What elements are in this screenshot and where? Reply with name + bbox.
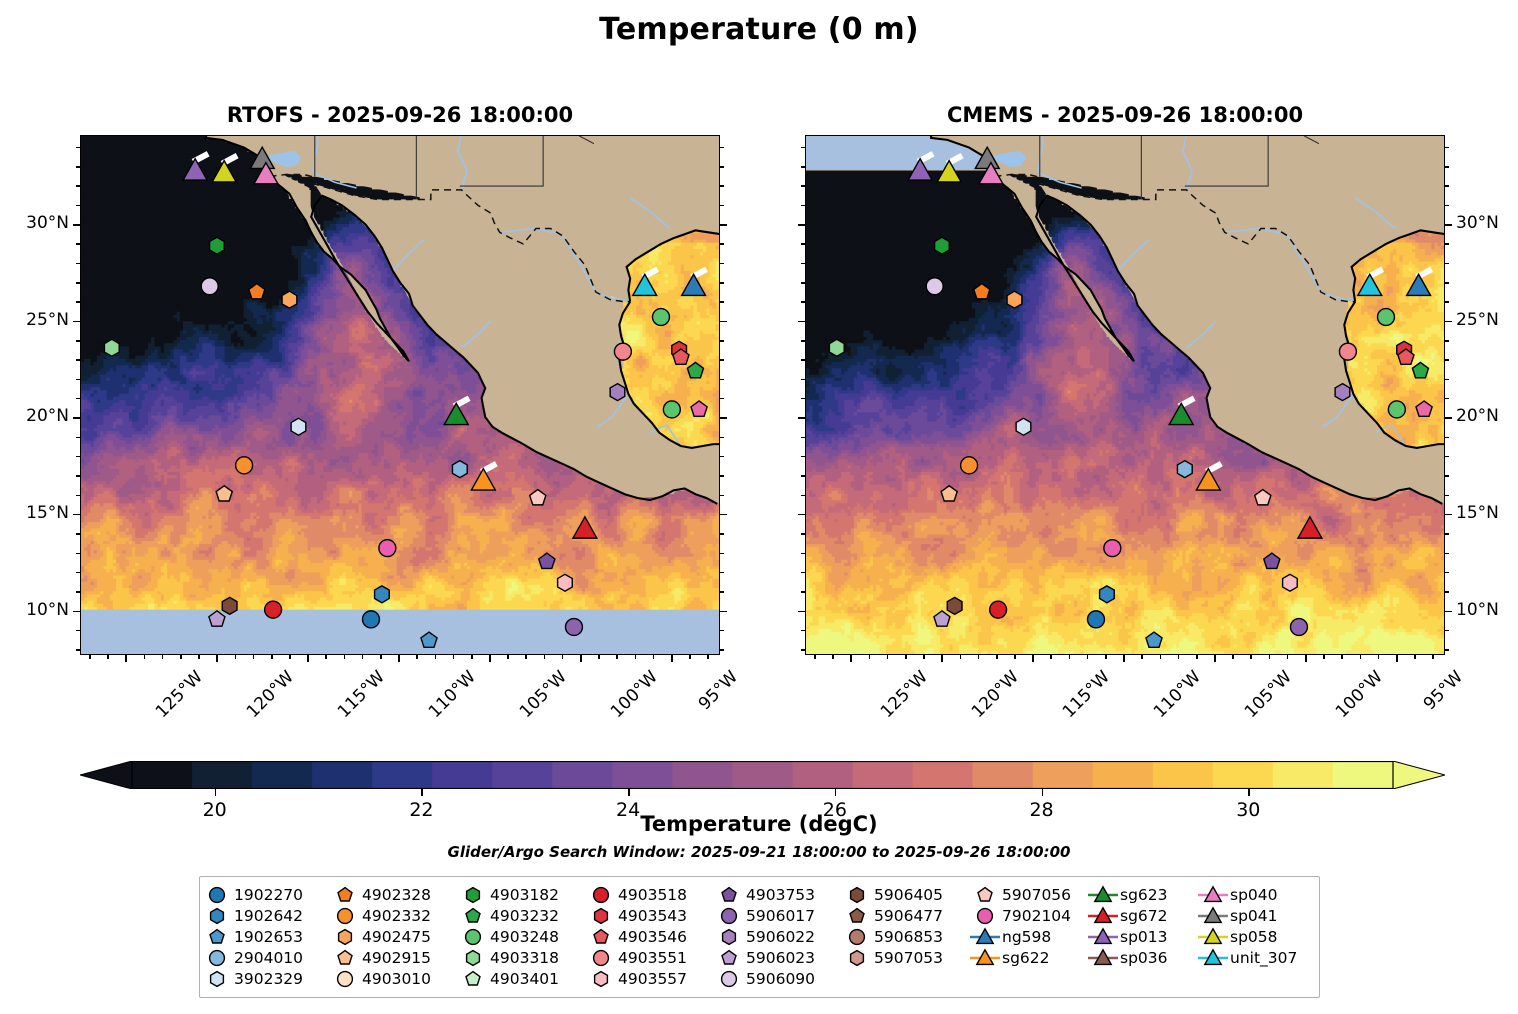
map-marker-1902270[interactable] xyxy=(210,887,225,902)
map-marker-1902642[interactable] xyxy=(211,908,224,923)
y-tick xyxy=(801,301,805,303)
glider-marker-icon xyxy=(1196,948,1230,968)
legend-label: 3902329 xyxy=(234,970,303,988)
y-tick xyxy=(1445,417,1452,419)
x-tick xyxy=(869,655,871,659)
y-tick xyxy=(720,553,724,555)
x-tick xyxy=(507,655,509,659)
map-marker-4903248[interactable] xyxy=(466,929,481,944)
colorbar-band xyxy=(432,761,493,789)
legend-label: 5906477 xyxy=(874,907,943,925)
y-tick xyxy=(1445,321,1452,323)
legend-item-ng598[interactable]: ng598 xyxy=(968,926,1086,947)
y-tick xyxy=(801,282,805,284)
legend-item-sp058[interactable]: sp058 xyxy=(1196,926,1314,947)
float-marker-icon xyxy=(712,906,746,926)
float-marker-icon xyxy=(328,927,362,947)
y-tick xyxy=(801,649,805,651)
y-tick xyxy=(76,301,80,303)
colorbar-tick xyxy=(1248,789,1249,796)
float-marker-icon xyxy=(456,948,490,968)
x-tick-label: 120°W xyxy=(243,667,298,722)
map-marker-5906022[interactable] xyxy=(1335,384,1350,401)
colorbar-band xyxy=(913,761,974,789)
legend-item-4902915[interactable]: 4902915 xyxy=(328,947,456,968)
legend-item-5906090[interactable]: 5906090 xyxy=(712,968,840,989)
legend-label: sg622 xyxy=(1002,949,1050,967)
y-tick xyxy=(1445,572,1449,574)
y-tick xyxy=(801,166,805,168)
map-marker-4903401[interactable] xyxy=(466,971,480,984)
y-tick xyxy=(801,495,805,497)
map-marker-5906017[interactable] xyxy=(722,908,737,923)
x-tick xyxy=(1014,655,1016,659)
y-tick xyxy=(798,224,805,226)
y-tick xyxy=(1445,630,1449,632)
y-tick xyxy=(1445,495,1449,497)
map-axes-rtofs[interactable] xyxy=(80,135,720,655)
map-marker-4903318[interactable] xyxy=(829,339,844,356)
x-tick xyxy=(1378,655,1380,659)
y-tick xyxy=(1445,398,1449,400)
legend-item-sg672[interactable]: sg672 xyxy=(1086,905,1196,926)
map-marker-4903518[interactable] xyxy=(990,601,1007,618)
y-tick xyxy=(1445,553,1449,555)
x-tick xyxy=(1141,655,1143,659)
map-marker-2904010[interactable] xyxy=(452,461,467,478)
map-marker-4903753[interactable] xyxy=(722,887,736,900)
map-marker-5906477[interactable] xyxy=(850,908,864,921)
x-tick xyxy=(489,655,491,662)
legend-label: 4903518 xyxy=(618,886,687,904)
map-marker-4902475[interactable] xyxy=(339,929,352,944)
y-tick xyxy=(1445,514,1452,516)
x-tick-label: 105°W xyxy=(516,667,571,722)
legend-item-5907053[interactable]: 5907053 xyxy=(840,947,968,968)
x-tick xyxy=(960,655,962,659)
x-tick xyxy=(1305,655,1307,662)
map-marker-5907053[interactable] xyxy=(851,950,864,965)
y-tick xyxy=(720,321,727,323)
legend-item-5906853[interactable]: 5906853 xyxy=(840,926,968,947)
y-tick xyxy=(801,553,805,555)
map-marker-5906090[interactable] xyxy=(201,278,218,295)
legend-column: 49031824903232490324849033184903401 xyxy=(456,884,584,997)
legend-label: 5906090 xyxy=(746,970,815,988)
map-marker-4902915[interactable] xyxy=(338,950,352,963)
map-marker-7902104[interactable] xyxy=(978,908,993,923)
map-marker-4903551[interactable] xyxy=(614,343,631,360)
y-tick xyxy=(720,205,724,207)
y-tick xyxy=(76,572,80,574)
legend-item-4902475[interactable]: 4902475 xyxy=(328,926,456,947)
x-tick-label: 110°W xyxy=(425,667,480,722)
legend-label: 1902642 xyxy=(234,907,303,925)
float-marker-icon xyxy=(200,969,234,989)
legend-label: sp058 xyxy=(1230,928,1278,946)
x-tick xyxy=(598,655,600,659)
y-tick xyxy=(720,591,724,593)
x-tick xyxy=(923,655,925,659)
map-marker-7902104[interactable] xyxy=(1104,540,1121,557)
map-marker-5906405[interactable] xyxy=(851,887,864,902)
x-tick xyxy=(1123,655,1125,662)
map-marker-2904010[interactable] xyxy=(210,950,225,965)
map-marker-4903318[interactable] xyxy=(104,339,119,356)
x-tick xyxy=(850,655,852,662)
glider-marker-icon xyxy=(1196,927,1230,947)
legend-item-4903318[interactable]: 4903318 xyxy=(456,947,584,968)
float-marker-icon xyxy=(584,885,618,905)
y-tick xyxy=(720,147,724,149)
colorbar-extend-max xyxy=(1393,761,1445,789)
legend-label: 4902475 xyxy=(362,928,431,946)
legend-item-4903557[interactable]: 4903557 xyxy=(584,968,712,989)
map-marker-5906090[interactable] xyxy=(926,278,943,295)
colorbar-tick xyxy=(628,789,629,796)
y-tick xyxy=(720,572,724,574)
map-marker-4902332[interactable] xyxy=(338,908,353,923)
legend-item-sp036[interactable]: sp036 xyxy=(1086,947,1196,968)
y-tick-label: 15°N xyxy=(1456,503,1499,523)
legend-label: sp036 xyxy=(1120,949,1168,967)
float-marker-icon xyxy=(584,948,618,968)
map-marker-5906853[interactable] xyxy=(850,929,865,944)
y-tick xyxy=(1445,224,1452,226)
x-tick xyxy=(525,655,527,659)
y-tick xyxy=(720,301,724,303)
float-marker-icon xyxy=(456,906,490,926)
x-tick-label: 120°W xyxy=(968,667,1023,722)
y-tick-label: 20°N xyxy=(0,406,69,426)
legend-columns: 1902270190264219026532904010390232949023… xyxy=(200,884,1319,997)
x-tick xyxy=(635,655,637,659)
map-marker-4903543[interactable] xyxy=(595,908,608,923)
colorbar-band xyxy=(312,761,373,789)
y-tick xyxy=(73,514,80,516)
float-marker-icon xyxy=(328,948,362,968)
legend-item-5906023[interactable]: 5906023 xyxy=(712,947,840,968)
float-marker-icon xyxy=(584,906,618,926)
legend-item-sp040[interactable]: sp040 xyxy=(1196,884,1314,905)
x-tick xyxy=(325,655,327,659)
map-marker-4903557[interactable] xyxy=(558,574,573,591)
x-tick xyxy=(89,655,91,659)
legend-column: sg623sg672sp013sp036 xyxy=(1086,884,1196,997)
legend-label: 4903753 xyxy=(746,886,815,904)
map-marker-5907056[interactable] xyxy=(978,887,992,900)
map-marker-4903518[interactable] xyxy=(265,601,282,618)
y-tick xyxy=(720,456,724,458)
legend-item-3902329[interactable]: 3902329 xyxy=(200,968,328,989)
platform-legend: 1902270190264219026532904010390232949023… xyxy=(199,876,1320,998)
legend-label: 5906853 xyxy=(874,928,943,946)
legend-item-1902642[interactable]: 1902642 xyxy=(200,905,328,926)
legend-label: 4903401 xyxy=(490,970,559,988)
float-marker-icon xyxy=(712,927,746,947)
x-tick xyxy=(562,655,564,659)
x-tick xyxy=(1105,655,1107,659)
y-tick xyxy=(1445,379,1449,381)
x-tick-label: 100°W xyxy=(1332,667,1387,722)
y-tick xyxy=(720,611,727,613)
map-marker-4903182[interactable] xyxy=(467,887,480,902)
y-tick xyxy=(73,417,80,419)
legend-item-4902332[interactable]: 4902332 xyxy=(328,905,456,926)
legend-item-5906477[interactable]: 5906477 xyxy=(840,905,968,926)
legend-label: 4903557 xyxy=(618,970,687,988)
legend-item-4903232[interactable]: 4903232 xyxy=(456,905,584,926)
glider-marker-icon xyxy=(1086,906,1120,926)
legend-label: ng598 xyxy=(1002,928,1051,946)
y-tick xyxy=(801,147,805,149)
colorbar-band xyxy=(732,761,793,789)
legend-item-5906022[interactable]: 5906022 xyxy=(712,926,840,947)
y-tick xyxy=(76,282,80,284)
map-marker-5906017[interactable] xyxy=(1290,619,1307,636)
x-tick xyxy=(216,655,218,662)
glider-marker-icon xyxy=(1196,885,1230,905)
legend-item-4903753[interactable]: 4903753 xyxy=(712,884,840,905)
legend-item-sg622[interactable]: sg622 xyxy=(968,947,1086,968)
panel-title-cmems: CMEMS - 2025-09-26 18:00:00 xyxy=(805,103,1445,127)
x-tick xyxy=(653,655,655,659)
map-marker-4903318[interactable] xyxy=(467,950,480,965)
x-tick xyxy=(1414,655,1416,659)
map-marker-4903232[interactable] xyxy=(466,908,480,921)
x-tick xyxy=(1069,655,1071,659)
colorbar-band xyxy=(793,761,854,789)
x-tick xyxy=(362,655,364,659)
legend-label: 4903010 xyxy=(362,970,431,988)
x-tick xyxy=(271,655,273,659)
y-tick xyxy=(801,630,805,632)
y-tick xyxy=(76,379,80,381)
y-tick xyxy=(1445,456,1449,458)
map-marker-4903401[interactable] xyxy=(663,401,680,418)
map-marker-4903182[interactable] xyxy=(935,237,950,254)
y-tick xyxy=(76,475,80,477)
legend-item-4903551[interactable]: 4903551 xyxy=(584,947,712,968)
y-tick xyxy=(801,475,805,477)
y-tick-label: 25°N xyxy=(0,310,69,330)
legend-item-1902653[interactable]: 1902653 xyxy=(200,926,328,947)
x-tick-label: 115°W xyxy=(334,667,389,722)
map-marker-4903557[interactable] xyxy=(1283,574,1298,591)
y-tick xyxy=(720,359,724,361)
map-marker-2904010[interactable] xyxy=(1177,461,1192,478)
colorbar-band xyxy=(853,761,914,789)
legend-item-4903401[interactable]: 4903401 xyxy=(456,968,584,989)
colorbar-band xyxy=(612,761,673,789)
x-tick xyxy=(996,655,998,659)
legend-label: 4903232 xyxy=(490,907,559,925)
y-tick xyxy=(76,553,80,555)
legend-column: 5906405590647759068535907053 xyxy=(840,884,968,997)
y-tick-label: 30°N xyxy=(0,213,69,233)
colorbar: 202224262830 xyxy=(80,761,1445,789)
legend-item-sg623[interactable]: sg623 xyxy=(1086,884,1196,905)
x-tick-label: 100°W xyxy=(607,667,662,722)
colorbar-band xyxy=(1333,761,1394,789)
y-tick xyxy=(720,398,724,400)
figure-canvas: Temperature (0 m) RTOFS - 2025-09-26 18:… xyxy=(0,0,1518,1014)
legend-item-4903248[interactable]: 4903248 xyxy=(456,926,584,947)
x-tick xyxy=(435,655,437,659)
map-marker-4903551[interactable] xyxy=(1339,343,1356,360)
y-tick xyxy=(720,340,724,342)
map-marker-4903557[interactable] xyxy=(595,971,608,986)
y-tick xyxy=(76,263,80,265)
colorbar-band xyxy=(552,761,613,789)
x-tick xyxy=(235,655,237,659)
x-tick xyxy=(307,655,309,662)
y-tick xyxy=(1445,475,1449,477)
map-marker-7902104[interactable] xyxy=(379,540,396,557)
y-tick xyxy=(1445,166,1449,168)
y-tick xyxy=(76,398,80,400)
map-marker-5906017[interactable] xyxy=(565,619,582,636)
legend-item-5906405[interactable]: 5906405 xyxy=(840,884,968,905)
legend-item-4903543[interactable]: 4903543 xyxy=(584,905,712,926)
y-tick xyxy=(1445,533,1449,535)
map-marker-5906022[interactable] xyxy=(723,929,736,944)
x-tick xyxy=(125,655,127,662)
y-tick xyxy=(720,630,724,632)
y-tick xyxy=(801,263,805,265)
x-tick xyxy=(1396,655,1398,662)
colorbar-band xyxy=(1033,761,1094,789)
legend-label: 4902915 xyxy=(362,949,431,967)
y-tick xyxy=(801,359,805,361)
y-tick xyxy=(801,243,805,245)
y-tick xyxy=(1445,147,1449,149)
legend-label: 2904010 xyxy=(234,949,303,967)
legend-label: 4903551 xyxy=(618,949,687,967)
x-tick-label: 95°W xyxy=(695,667,742,714)
y-tick xyxy=(801,456,805,458)
y-tick xyxy=(801,185,805,187)
y-tick xyxy=(73,321,80,323)
y-tick xyxy=(76,649,80,651)
map-marker-4902332[interactable] xyxy=(961,457,978,474)
legend-item-sp041[interactable]: sp041 xyxy=(1196,905,1314,926)
x-tick xyxy=(471,655,473,659)
map-marker-4903248[interactable] xyxy=(653,309,670,326)
float-marker-icon xyxy=(840,927,874,947)
legend-item-2904010[interactable]: 2904010 xyxy=(200,947,328,968)
y-tick xyxy=(720,495,724,497)
colorbar-tick xyxy=(421,789,422,796)
map-marker-1902270[interactable] xyxy=(363,611,380,628)
y-tick xyxy=(76,630,80,632)
y-tick xyxy=(798,514,805,516)
map-marker-4903518[interactable] xyxy=(594,887,609,902)
map-marker-1902653[interactable] xyxy=(210,929,224,942)
map-marker-1902270[interactable] xyxy=(1088,611,1105,628)
legend-item-4903182[interactable]: 4903182 xyxy=(456,884,584,905)
colorbar-band xyxy=(372,761,433,789)
map-marker-1902642[interactable] xyxy=(375,586,390,603)
legend-label: 5906022 xyxy=(746,928,815,946)
map-marker-1902642[interactable] xyxy=(1100,586,1115,603)
legend-item-4903546[interactable]: 4903546 xyxy=(584,926,712,947)
x-tick xyxy=(1323,655,1325,659)
legend-item-4903010[interactable]: 4903010 xyxy=(328,968,456,989)
map-marker-5906023[interactable] xyxy=(722,950,736,963)
legend-item-sp013[interactable]: sp013 xyxy=(1086,926,1196,947)
y-tick xyxy=(801,533,805,535)
x-tick xyxy=(253,655,255,659)
x-tick xyxy=(1032,655,1034,662)
map-marker-3902329[interactable] xyxy=(1016,418,1031,435)
map-marker-4903551[interactable] xyxy=(594,950,609,965)
x-tick xyxy=(671,655,673,662)
y-tick xyxy=(1445,591,1449,593)
y-tick-label: 10°N xyxy=(1456,600,1499,620)
legend-item-7902104[interactable]: 7902104 xyxy=(968,905,1086,926)
map-marker-4903248[interactable] xyxy=(1378,309,1395,326)
glider-marker-icon xyxy=(1196,906,1230,926)
legend-item-1902270[interactable]: 1902270 xyxy=(200,884,328,905)
map-marker-4902475[interactable] xyxy=(282,291,297,308)
legend-column: 49037535906017590602259060235906090 xyxy=(712,884,840,997)
x-tick xyxy=(616,655,618,659)
legend-label: 5906023 xyxy=(746,949,815,967)
y-tick xyxy=(801,398,805,400)
legend-label: 1902270 xyxy=(234,886,303,904)
map-marker-5906405[interactable] xyxy=(222,597,237,614)
map-marker-4903010[interactable] xyxy=(338,971,353,986)
legend-label: 5906405 xyxy=(874,886,943,904)
map-marker-3902329[interactable] xyxy=(291,418,306,435)
x-tick xyxy=(398,655,400,662)
map-marker-4903546[interactable] xyxy=(594,929,608,942)
float-marker-icon xyxy=(200,948,234,968)
y-tick xyxy=(720,224,727,226)
legend-item-4903518[interactable]: 4903518 xyxy=(584,884,712,905)
legend-item-unit_307[interactable]: unit_307 xyxy=(1196,947,1314,968)
map-marker-5906022[interactable] xyxy=(610,384,625,401)
y-tick xyxy=(73,224,80,226)
map-axes-cmems[interactable] xyxy=(805,135,1445,655)
legend-item-4902328[interactable]: 4902328 xyxy=(328,884,456,905)
x-tick xyxy=(1360,655,1362,659)
legend-label: 4903543 xyxy=(618,907,687,925)
map-marker-3902329[interactable] xyxy=(211,971,224,986)
y-tick xyxy=(798,417,805,419)
y-tick xyxy=(1445,243,1449,245)
colorbar-band xyxy=(1213,761,1274,789)
x-tick-label: 125°W xyxy=(877,667,932,722)
x-tick xyxy=(1269,655,1271,659)
map-marker-4902328[interactable] xyxy=(338,887,352,900)
glider-marker-icon xyxy=(1086,948,1120,968)
map-marker-4902475[interactable] xyxy=(1007,291,1022,308)
y-tick xyxy=(720,533,724,535)
legend-item-5907056[interactable]: 5907056 xyxy=(968,884,1086,905)
y-tick xyxy=(720,282,724,284)
float-marker-icon xyxy=(712,885,746,905)
x-tick xyxy=(1196,655,1198,659)
map-marker-4902332[interactable] xyxy=(236,457,253,474)
map-marker-5906405[interactable] xyxy=(947,597,962,614)
map-marker-4903401[interactable] xyxy=(1388,401,1405,418)
y-tick xyxy=(1445,301,1449,303)
map-marker-5906090[interactable] xyxy=(722,971,737,986)
legend-item-5906017[interactable]: 5906017 xyxy=(712,905,840,926)
map-marker-4903182[interactable] xyxy=(210,237,225,254)
